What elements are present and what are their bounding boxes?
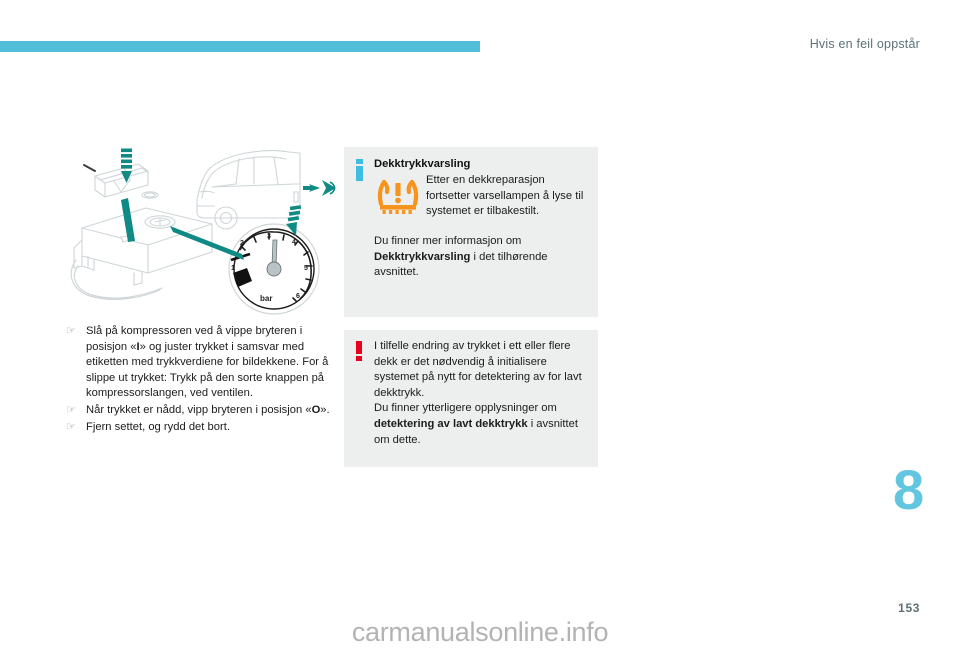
info-callout-box: Dekktrykkvarsling	[344, 147, 598, 317]
list-item: ☞ Fjern settet, og rydd det bort.	[64, 420, 344, 436]
svg-text:3: 3	[267, 233, 271, 240]
procedure-step-list: ☞ Slå på kompressoren ved å vippe bryter…	[64, 324, 344, 436]
gauge-unit-label: bar	[260, 294, 272, 303]
list-item-text: Slå på kompressoren ved å vippe bryteren…	[86, 324, 344, 402]
svg-text:2: 2	[240, 240, 244, 247]
chapter-number: 8	[893, 462, 923, 518]
svg-text:6: 6	[296, 293, 300, 300]
illustration-column: 1 2 3 4 5 6 bar	[64, 140, 340, 318]
bullet-hand-icon: ☞	[64, 420, 86, 436]
list-item-text: Fjern settet, og rydd det bort.	[86, 420, 344, 436]
svg-text:1: 1	[231, 265, 235, 272]
list-item: ☞ Når trykket er nådd, vipp bryteren i p…	[64, 403, 344, 419]
tyre-pressure-warning-icon	[374, 173, 426, 221]
bullet-hand-icon: ☞	[64, 324, 86, 340]
list-item-text: Når trykket er nådd, vipp bryteren i pos…	[86, 403, 344, 419]
info-callout-paragraph-1: Etter en dekkreparasjon fortsetter varse…	[426, 173, 584, 220]
site-watermark: carmanualsonline.info	[0, 617, 960, 648]
warning-callout-box: I tilfelle endring av trykket i ett elle…	[344, 330, 598, 467]
page-number: 153	[898, 601, 920, 615]
info-callout-title: Dekktrykkvarsling	[374, 157, 584, 172]
info-callout-paragraph-2: Du finner mer informasjon om Dekktrykkva…	[374, 234, 584, 281]
bullet-hand-icon: ☞	[64, 403, 86, 419]
info-i-icon	[356, 157, 374, 181]
warning-callout-paragraph-2: Du finner ytterligere opplysninger om de…	[374, 401, 584, 448]
svg-text:4: 4	[292, 239, 296, 246]
warning-callout-paragraph-1: I tilfelle endring av trykket i ett elle…	[374, 339, 584, 401]
header-accent-bar	[0, 41, 480, 52]
list-item: ☞ Slå på kompressoren ved å vippe bryter…	[64, 324, 344, 402]
chapter-title: Hvis en feil oppstår	[810, 37, 920, 51]
svg-text:5: 5	[304, 265, 308, 272]
tyre-repair-kit-compressor-diagram: 1 2 3 4 5 6 bar	[64, 140, 340, 318]
exclamation-icon	[356, 339, 374, 361]
